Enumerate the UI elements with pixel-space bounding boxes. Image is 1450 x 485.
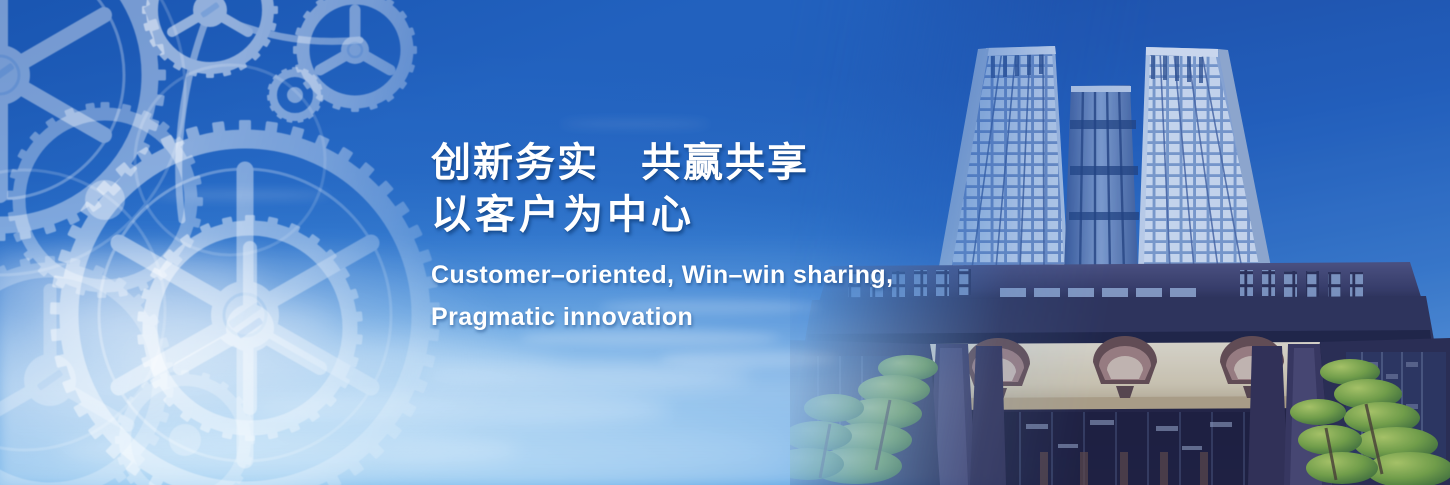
hero-banner: 创新务实 共赢共享 以客户为中心 Customer–oriented, Win–…	[0, 0, 1450, 485]
subtitle-english-line1: Customer–oriented, Win–win sharing,	[431, 254, 991, 296]
cloud-wisp	[560, 120, 710, 128]
subtitle-english-line2: Pragmatic innovation	[431, 296, 991, 338]
headline-chinese-line1: 创新务实 共赢共享	[431, 137, 991, 189]
headline-chinese-line2: 以客户为中心	[431, 189, 991, 241]
banner-copy: 创新务实 共赢共享 以客户为中心 Customer–oriented, Win–…	[431, 137, 991, 338]
